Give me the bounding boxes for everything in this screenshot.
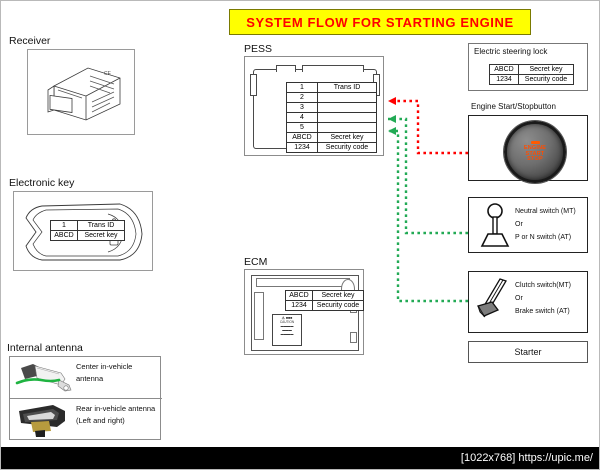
ecm-label: ECM [244, 256, 267, 268]
table-row: ABCDSecret key [286, 291, 364, 301]
diagram-page: SYSTEM FLOW FOR STARTING ENGINE Receiver… [0, 0, 600, 470]
table-cell [318, 93, 377, 103]
electronic-key-label: Electronic key [9, 177, 74, 189]
center-antenna-text: Center in-vehicle antenna [76, 361, 160, 385]
table-cell: 1234 [287, 143, 318, 153]
connector-line-1 [388, 101, 468, 153]
engine-start-stop-label: Engine Start/Stopbutton [471, 102, 556, 111]
internal-antenna-panel: Center in-vehicle antenna Rear in-vehicl… [9, 356, 161, 440]
table-cell: Trans ID [78, 221, 125, 231]
electric-steering-lock-table: ABCDSecret key1234Security code [489, 64, 574, 85]
connector-line-3 [388, 131, 468, 301]
table-cell: 4 [287, 113, 318, 123]
connector-arrow-2 [388, 115, 396, 123]
table-cell [318, 103, 377, 113]
engine-start-stop-button[interactable]: ENGINE START STOP [504, 121, 566, 183]
gear-shifter-icon [474, 202, 516, 248]
table-cell: 1 [287, 83, 318, 93]
table-row: 4 [287, 113, 377, 123]
electric-steering-lock-panel: Electric steering lock ABCDSecret key123… [468, 43, 588, 91]
ecm-panel: ABCDSecret key1234Security code ⚠ ■■■ CA… [244, 269, 364, 355]
table-cell: 5 [287, 123, 318, 133]
table-row: ABCDSecret key [51, 231, 125, 241]
table-row: 1234Security code [286, 301, 364, 311]
receiver-label: Receiver [9, 35, 50, 47]
neutral-switch-line2: Or [515, 218, 587, 231]
button-line-3: STOP [527, 157, 543, 163]
ecm-port-b [350, 332, 357, 343]
pess-table-body: 1Trans ID2345ABCDSecret key1234Security … [287, 83, 377, 153]
pess-tab-left [276, 65, 296, 72]
table-cell: ABCD [286, 291, 313, 301]
svg-text:CE: CE [104, 71, 112, 77]
table-cell [318, 113, 377, 123]
table-row: 3 [287, 103, 377, 113]
table-row: 1Trans ID [287, 83, 377, 93]
neutral-switch-line1: Neutral switch (MT) [515, 205, 587, 218]
electronic-key-table-body: 1Trans IDABCDSecret key [51, 221, 125, 241]
starter-panel: Starter [468, 341, 588, 363]
table-cell: 1234 [286, 301, 313, 311]
table-cell: Security code [318, 143, 377, 153]
table-cell: Secret key [78, 231, 125, 241]
ecm-connector-top [256, 278, 350, 287]
table-cell: Security code [519, 75, 574, 85]
table-cell: Security code [313, 301, 364, 311]
diagram-title-banner: SYSTEM FLOW FOR STARTING ENGINE [229, 9, 531, 35]
pess-tab-right [302, 65, 364, 72]
ecm-table: ABCDSecret key1234Security code [285, 290, 364, 311]
engine-start-stop-panel: ENGINE START STOP [468, 115, 588, 181]
pess-bracket-left [250, 74, 257, 96]
center-antenna-line1: Center in-vehicle [76, 361, 160, 373]
table-row: 1Trans ID [51, 221, 125, 231]
table-row: 2 [287, 93, 377, 103]
receiver-panel: CE [27, 49, 135, 135]
clutch-switch-text: Clutch switch(MT) Or Brake switch (AT) [515, 279, 587, 318]
table-cell: 3 [287, 103, 318, 113]
rear-antenna-photo [13, 401, 75, 439]
table-row: ABCDSecret key [490, 65, 574, 75]
table-row: ABCDSecret key [287, 133, 377, 143]
table-cell: ABCD [51, 231, 78, 241]
electronic-key-panel: 1Trans IDABCDSecret key [13, 191, 153, 271]
pess-table: 1Trans ID2345ABCDSecret key1234Security … [286, 82, 377, 153]
page-title: SYSTEM FLOW FOR STARTING ENGINE [246, 15, 514, 30]
starter-label: Starter [514, 347, 541, 357]
table-cell: ABCD [490, 65, 519, 75]
table-cell: Secret key [313, 291, 364, 301]
table-cell: Secret key [318, 133, 377, 143]
table-row: 5 [287, 123, 377, 133]
center-antenna-photo [13, 359, 75, 397]
rear-antenna-line1: Rear in-vehicle antenna [76, 403, 160, 415]
pess-module-body: 1Trans ID2345ABCDSecret key1234Security … [253, 69, 377, 149]
table-cell: 1 [51, 221, 78, 231]
neutral-switch-panel: Neutral switch (MT) Or P or N switch (AT… [468, 197, 588, 253]
neutral-switch-text: Neutral switch (MT) Or P or N switch (AT… [515, 205, 587, 244]
clutch-switch-line1: Clutch switch(MT) [515, 279, 587, 292]
neutral-switch-line3: P or N switch (AT) [515, 231, 587, 244]
clutch-switch-line3: Brake switch (AT) [515, 305, 587, 318]
connector-arrow-1 [388, 97, 396, 105]
receiver-illustration: CE [40, 60, 124, 126]
table-cell [318, 123, 377, 133]
rear-antenna-line2: (Left and right) [76, 415, 160, 427]
ecm-table-body: ABCDSecret key1234Security code [286, 291, 364, 311]
clutch-switch-panel: Clutch switch(MT) Or Brake switch (AT) [468, 271, 588, 333]
pedal-icon [474, 276, 516, 322]
watermark-bar: [1022x768] https://upic.me/ [1, 447, 599, 469]
internal-antenna-label: Internal antenna [7, 342, 83, 354]
esl-table-body: ABCDSecret key1234Security code [490, 65, 574, 85]
table-cell: 2 [287, 93, 318, 103]
pess-label: PESS [244, 43, 272, 55]
ecm-connector-left [254, 292, 264, 340]
electric-steering-lock-label: Electric steering lock [474, 47, 547, 56]
table-cell: Secret key [519, 65, 574, 75]
antenna-row-rear: Rear in-vehicle antenna (Left and right) [10, 399, 162, 441]
ecm-caution-lines: ▬▬▬▬▬▬▬▬▬▬▬ [274, 324, 300, 336]
watermark-text: [1022x768] https://upic.me/ [461, 452, 593, 464]
rear-antenna-text: Rear in-vehicle antenna (Left and right) [76, 403, 160, 427]
table-cell: Trans ID [318, 83, 377, 93]
clutch-switch-line2: Or [515, 292, 587, 305]
antenna-row-center: Center in-vehicle antenna [10, 357, 162, 399]
ecm-module-body: ABCDSecret key1234Security code ⚠ ■■■ CA… [251, 275, 359, 351]
connector-line-2 [388, 119, 468, 233]
table-cell: ABCD [287, 133, 318, 143]
electronic-key-table: 1Trans IDABCDSecret key [50, 220, 125, 241]
engine-icon [531, 141, 540, 144]
table-row: 1234Security code [287, 143, 377, 153]
table-cell: 1234 [490, 75, 519, 85]
table-row: 1234Security code [490, 75, 574, 85]
pess-panel: 1Trans ID2345ABCDSecret key1234Security … [244, 56, 384, 156]
ecm-caution-label: ⚠ ■■■ CAUTION ▬▬▬▬▬▬▬▬▬▬▬ [272, 314, 302, 346]
center-antenna-line2: antenna [76, 373, 160, 385]
connector-arrow-3 [388, 127, 396, 135]
